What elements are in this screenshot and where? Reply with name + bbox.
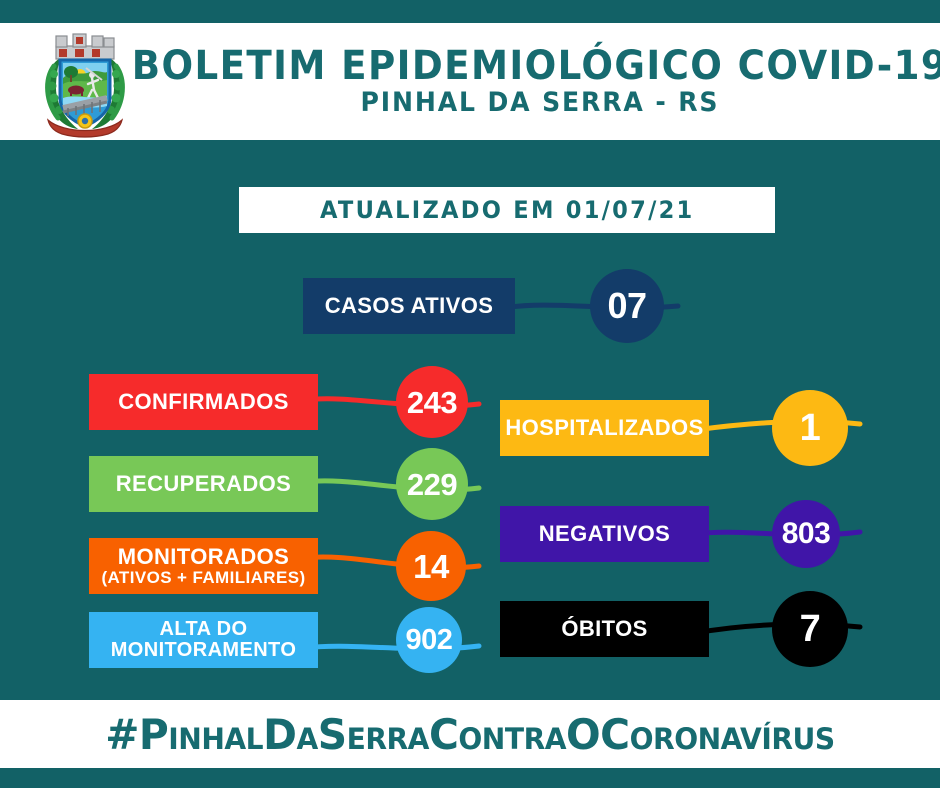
header-titles: BOLETIM EPIDEMIOLÓGICO COVID-19 PINHAL D… <box>150 23 930 140</box>
stat-pill-alta-monitoramento[interactable]: ALTA DO MONITORAMENTO <box>89 612 318 668</box>
stat-label: RECUPERADOS <box>116 473 292 496</box>
stat-row-casos-ativos: CASOS ATIVOS 07 <box>303 278 663 334</box>
stat-row-alta-monitoramento: ALTA DO MONITORAMENTO 902 <box>89 612 469 668</box>
stat-label: HOSPITALIZADOS <box>505 417 703 440</box>
stat-label: ALTA DO <box>160 619 248 640</box>
stat-value: 902 <box>406 626 453 655</box>
stat-value-bubble-alta-monitoramento[interactable]: 902 <box>396 607 462 673</box>
stat-value-bubble-recuperados[interactable]: 229 <box>396 448 468 520</box>
stat-row-recuperados: RECUPERADOS 229 <box>89 456 469 512</box>
last-updated-text: ATUALIZADO EM 01/07/21 <box>320 196 695 224</box>
coat-of-arms-icon <box>30 28 140 138</box>
stat-value: 243 <box>407 387 457 418</box>
stat-pill-confirmados[interactable]: CONFIRMADOS <box>89 374 318 430</box>
stat-sublabel: (ATIVOS + FAMILIARES) <box>101 569 305 587</box>
last-updated-banner: ATUALIZADO EM 01/07/21 <box>239 187 775 233</box>
stat-label: NEGATIVOS <box>539 523 671 546</box>
stat-value-bubble-monitorados[interactable]: 14 <box>396 531 466 601</box>
stat-row-confirmados: CONFIRMADOS 243 <box>89 374 469 430</box>
stat-pill-recuperados[interactable]: RECUPERADOS <box>89 456 318 512</box>
stat-value: 229 <box>407 469 457 500</box>
stat-value-bubble-negativos[interactable]: 803 <box>772 500 840 568</box>
stat-pill-hospitalizados[interactable]: HOSPITALIZADOS <box>500 400 709 456</box>
stat-row-hospitalizados: HOSPITALIZADOS 1 <box>500 400 860 456</box>
stat-value-bubble-hospitalizados[interactable]: 1 <box>772 390 848 466</box>
stat-pill-negativos[interactable]: NEGATIVOS <box>500 506 709 562</box>
stat-pill-casos-ativos[interactable]: CASOS ATIVOS <box>303 278 515 334</box>
footer-band: #PinhalDaSerraContraOCoronavírus <box>0 700 940 768</box>
stat-row-monitorados: MONITORADOS (ATIVOS + FAMILIARES) 14 <box>89 538 469 594</box>
stat-value: 7 <box>800 610 821 648</box>
stat-sublabel: MONITORAMENTO <box>111 640 297 661</box>
stat-pill-obitos[interactable]: ÓBITOS <box>500 601 709 657</box>
stat-row-obitos: ÓBITOS 7 <box>500 601 860 657</box>
stat-value: 803 <box>782 519 831 549</box>
stat-pill-monitorados[interactable]: MONITORADOS (ATIVOS + FAMILIARES) <box>89 538 318 594</box>
page-title: BOLETIM EPIDEMIOLÓGICO COVID-19 <box>132 46 940 86</box>
stat-label: MONITORADOS <box>118 546 289 569</box>
stat-row-negativos: NEGATIVOS 803 <box>500 506 860 562</box>
header-band: BOLETIM EPIDEMIOLÓGICO COVID-19 PINHAL D… <box>0 23 940 140</box>
stat-value: 1 <box>800 409 821 447</box>
stat-value: 07 <box>607 288 646 324</box>
stat-label: ÓBITOS <box>561 618 647 641</box>
stat-value-bubble-confirmados[interactable]: 243 <box>396 366 468 438</box>
covid-bulletin-poster: BOLETIM EPIDEMIOLÓGICO COVID-19 PINHAL D… <box>0 0 940 788</box>
stat-value-bubble-obitos[interactable]: 7 <box>772 591 848 667</box>
stat-label: CASOS ATIVOS <box>325 295 494 318</box>
page-subtitle: PINHAL DA SERRA - RS <box>361 88 720 118</box>
stat-value-bubble-casos-ativos[interactable]: 07 <box>590 269 664 343</box>
stat-label: CONFIRMADOS <box>118 391 289 414</box>
stat-value: 14 <box>413 550 449 583</box>
campaign-hashtag: #PinhalDaSerraContraOCoronavírus <box>105 710 834 759</box>
